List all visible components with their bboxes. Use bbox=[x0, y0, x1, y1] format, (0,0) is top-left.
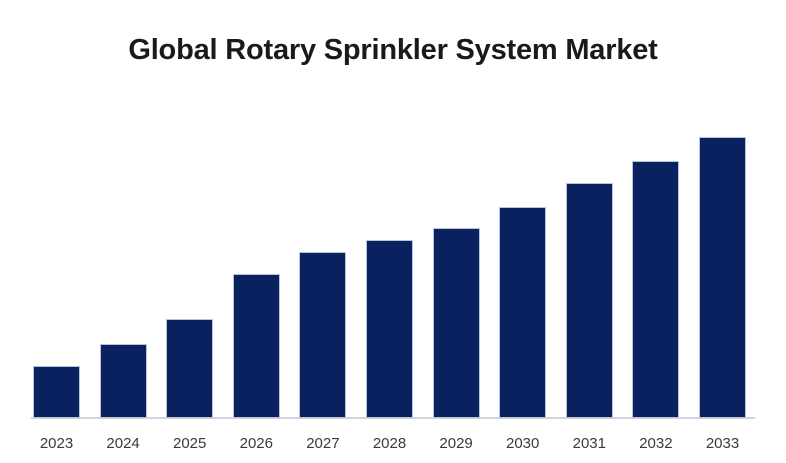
bar-2028[interactable] bbox=[366, 240, 413, 417]
bar-2024[interactable] bbox=[100, 344, 147, 418]
x-tick-label-2024: 2024 bbox=[94, 435, 153, 453]
bar-2031[interactable] bbox=[566, 183, 613, 417]
x-tick-label-2025: 2025 bbox=[160, 435, 219, 453]
x-tick-label-2030: 2030 bbox=[493, 435, 552, 453]
x-tick-label-2027: 2027 bbox=[293, 435, 352, 453]
x-tick-label-2031: 2031 bbox=[560, 435, 619, 453]
x-tick-label-2026: 2026 bbox=[227, 435, 286, 453]
bar-2025[interactable] bbox=[166, 319, 213, 417]
plot-area: 2023202420252026202720282029203020312032… bbox=[0, 0, 786, 463]
bar-2026[interactable] bbox=[233, 274, 280, 417]
bar-2033[interactable] bbox=[699, 137, 746, 418]
bar-2030[interactable] bbox=[499, 207, 546, 418]
x-tick-label-2032: 2032 bbox=[626, 435, 685, 453]
bar-2027[interactable] bbox=[299, 252, 346, 418]
chart-container: Global Rotary Sprinkler System Market 20… bbox=[0, 0, 786, 463]
x-tick-label-2028: 2028 bbox=[360, 435, 419, 453]
bar-2023[interactable] bbox=[33, 366, 80, 417]
x-tick-label-2023: 2023 bbox=[27, 435, 86, 453]
bar-2032[interactable] bbox=[632, 161, 679, 418]
bar-2029[interactable] bbox=[433, 228, 480, 417]
x-tick-label-2029: 2029 bbox=[427, 435, 486, 453]
x-tick-label-2033: 2033 bbox=[693, 435, 752, 453]
